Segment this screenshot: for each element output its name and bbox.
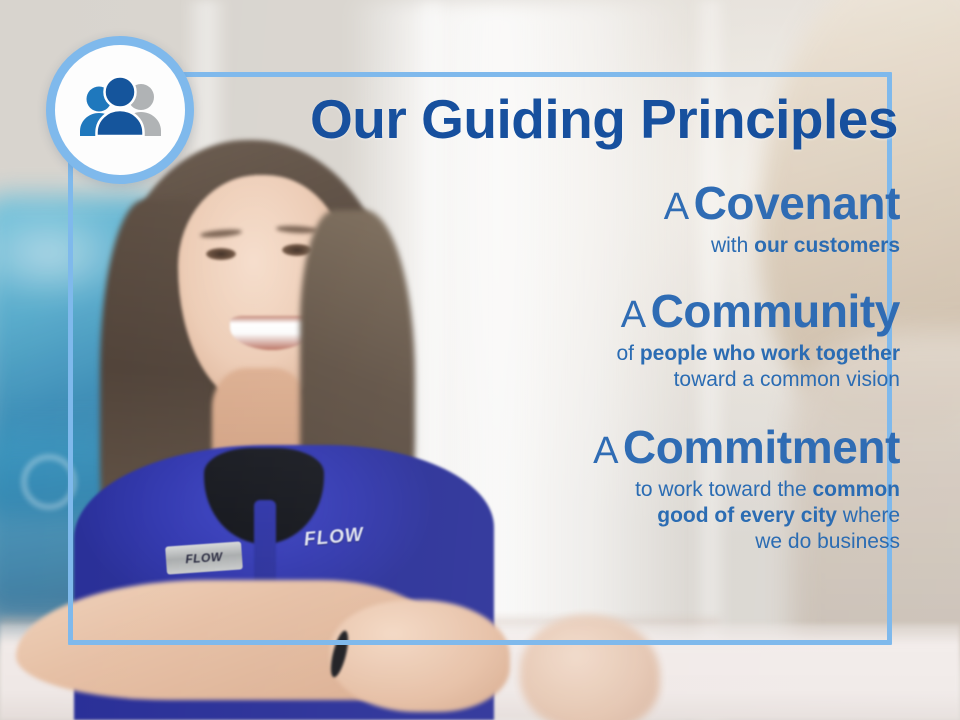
subtext-segment-bold: people who work together [640,342,900,365]
subtext-segment: where [837,504,900,527]
subtext-line: we do business [300,529,900,555]
subtext-segment-bold: our customers [754,234,900,257]
principle-commitment: A Commitment to work toward the common g… [300,424,900,554]
name-badge-text: FLOW [185,550,223,567]
principle-subtext: to work toward the common good of every … [300,477,900,554]
poster-canvas: FLOW FLOW Our Guiding Principles A Co [0,0,960,720]
principle-subtext: of people who work together toward a com… [300,341,900,392]
subtext-segment: to work toward the [635,478,812,501]
name-badge: FLOW [165,541,243,574]
subtext-line: good of every city where [300,503,900,529]
eye-left [206,248,236,260]
principle-word: Community [651,285,900,337]
subtext-line: to work toward the common [300,477,900,503]
principle-heading: A Covenant [300,180,900,228]
principle-article: A [664,186,689,228]
principle-covenant: A Covenant with our customers [300,180,900,258]
subtext-segment: toward a common vision [674,368,900,391]
subtext-segment: we do business [755,530,900,553]
subtext-line: with our customers [300,233,900,259]
principle-community: A Community of people who work together … [300,288,900,392]
principle-article: A [621,294,646,336]
principle-heading: A Community [300,288,900,336]
subtext-segment: of [616,342,639,365]
subtext-segment-bold: common [812,478,900,501]
subtext-segment-bold: good of every city [657,504,837,527]
clasped-hands [330,600,510,712]
principle-subtext: with our customers [300,233,900,259]
principle-article: A [593,430,618,472]
principle-word: Commitment [623,421,900,473]
subtext-line: toward a common vision [300,367,900,393]
principles-list: A Covenant with our customers A Communit… [300,180,900,558]
page-title: Our Guiding Principles [0,92,898,147]
subtext-segment: with [711,234,754,257]
principle-heading: A Commitment [300,424,900,472]
subtext-line: of people who work together [300,341,900,367]
principle-word: Covenant [694,177,900,229]
